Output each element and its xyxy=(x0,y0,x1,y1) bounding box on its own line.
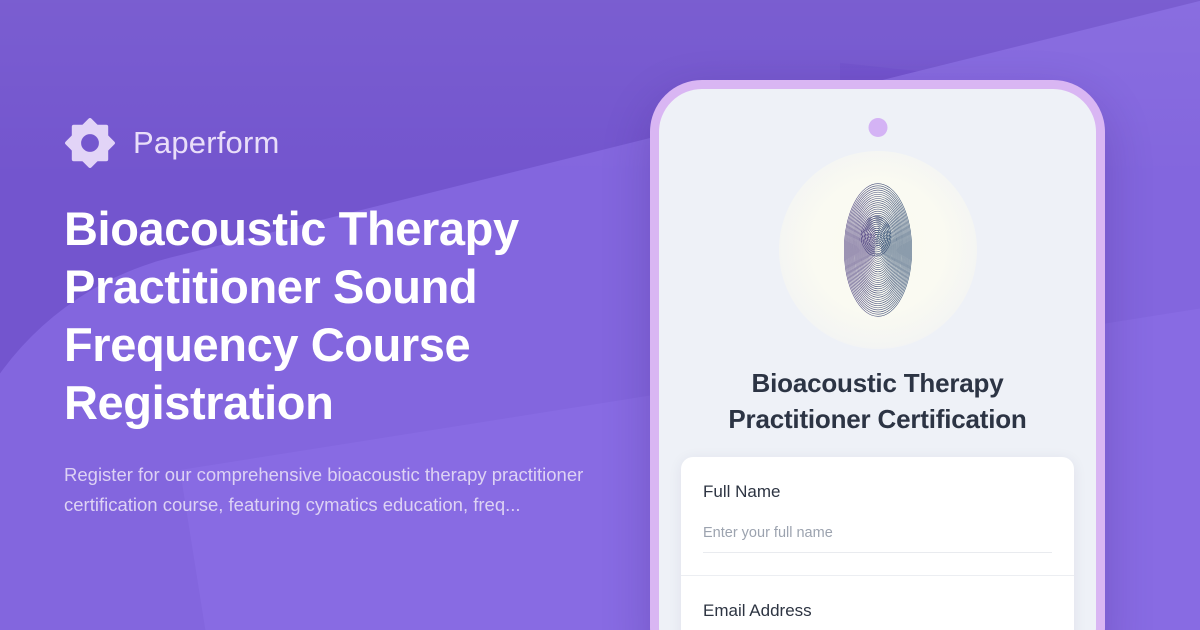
paperform-star-logo-icon xyxy=(64,117,116,169)
phone-mockup: Bioacoustic Therapy Practitioner Certifi… xyxy=(650,80,1105,630)
waveform-svg xyxy=(779,151,977,349)
cymatics-waveform-illustration xyxy=(779,151,977,349)
brand-lockup: Paperform xyxy=(64,112,624,174)
form-field-email-address[interactable]: Email Address xyxy=(681,576,1074,630)
hero-subtitle: Register for our comprehensive bioacoust… xyxy=(64,460,584,520)
brand-name: Paperform xyxy=(133,125,280,161)
registration-form-card: Full Name Enter your full name Email Add… xyxy=(681,457,1074,630)
form-field-full-name[interactable]: Full Name Enter your full name xyxy=(681,457,1074,576)
field-label-full-name: Full Name xyxy=(703,481,1052,503)
field-label-email-address: Email Address xyxy=(703,600,1052,624)
hero-panel: Paperform Bioacoustic Therapy Practition… xyxy=(64,0,624,630)
camera-dot-icon xyxy=(868,118,887,137)
full-name-input[interactable]: Enter your full name xyxy=(703,523,1052,553)
form-title: Bioacoustic Therapy Practitioner Certifi… xyxy=(681,365,1074,437)
page-title: Bioacoustic Therapy Practitioner Sound F… xyxy=(64,200,584,432)
